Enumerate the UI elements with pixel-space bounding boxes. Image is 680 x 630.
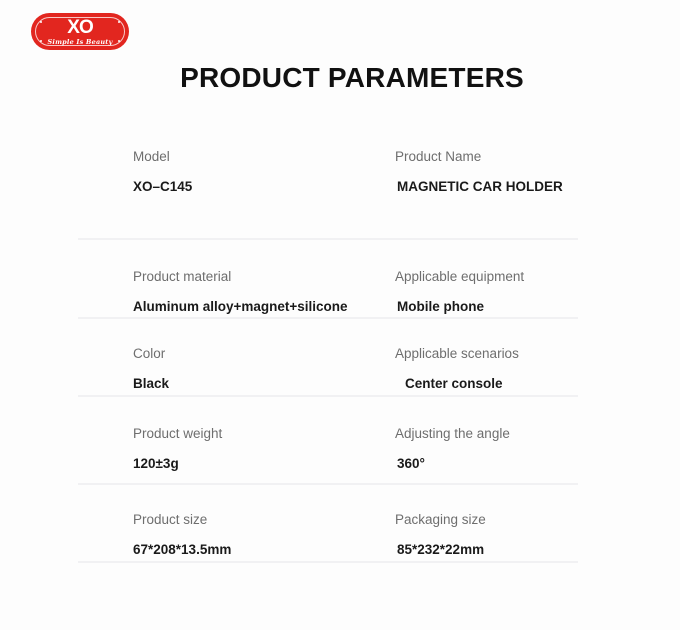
logo-tagline: Simple Is Beauty xyxy=(48,39,113,46)
spec-value: 120±3g xyxy=(133,457,222,471)
spec-row: Product weight 120±3g Adjusting the angl… xyxy=(0,395,680,483)
spec-value: XO–C145 xyxy=(133,180,192,194)
spec-label: Product material xyxy=(133,270,348,284)
spec-label: Model xyxy=(133,150,192,164)
logo-dot-top-right xyxy=(118,21,120,23)
product-parameters-table: Model XO–C145 Product Name MAGNETIC CAR … xyxy=(0,150,680,543)
spec-cell-packaging-size: Packaging size 85*232*22mm xyxy=(395,513,486,556)
spec-label: Packaging size xyxy=(395,513,486,527)
spec-value: MAGNETIC CAR HOLDER xyxy=(397,180,563,194)
logo-dot-bottom-right xyxy=(118,40,120,42)
spec-value: Aluminum alloy+magnet+silicone xyxy=(133,300,348,314)
spec-value: 360° xyxy=(397,457,510,471)
page-title: PRODUCT PARAMETERS xyxy=(0,62,680,94)
spec-value: Black xyxy=(133,377,169,391)
logo-dot-bottom-left xyxy=(40,40,42,42)
spec-label: Applicable scenarios xyxy=(395,347,519,361)
spec-value: 67*208*13.5mm xyxy=(133,543,231,557)
brand-logo: XO Simple Is Beauty xyxy=(31,13,129,50)
spec-row: Model XO–C145 Product Name MAGNETIC CAR … xyxy=(0,150,680,238)
spec-row: Product material Aluminum alloy+magnet+s… xyxy=(0,238,680,318)
spec-label: Applicable equipment xyxy=(395,270,524,284)
spec-row: Color Black Applicable scenarios Center … xyxy=(0,318,680,395)
spec-cell-model: Model XO–C145 xyxy=(133,150,192,193)
spec-label: Product weight xyxy=(133,427,222,441)
logo-wordmark: XO xyxy=(67,18,92,37)
spec-row: Product size 67*208*13.5mm Packaging siz… xyxy=(0,483,680,543)
row-divider xyxy=(78,561,578,563)
logo-dot-top-left xyxy=(40,21,42,23)
spec-value: 85*232*22mm xyxy=(397,543,486,557)
spec-cell-product-name: Product Name MAGNETIC CAR HOLDER xyxy=(395,150,563,193)
spec-cell-product-size: Product size 67*208*13.5mm xyxy=(133,513,231,556)
spec-cell-color: Color Black xyxy=(133,347,169,390)
spec-value: Mobile phone xyxy=(397,300,524,314)
spec-cell-product-weight: Product weight 120±3g xyxy=(133,427,222,470)
spec-label: Adjusting the angle xyxy=(395,427,510,441)
spec-label: Product Name xyxy=(395,150,563,164)
spec-cell-adjusting-angle: Adjusting the angle 360° xyxy=(395,427,510,470)
spec-cell-product-material: Product material Aluminum alloy+magnet+s… xyxy=(133,270,348,313)
spec-label: Color xyxy=(133,347,169,361)
spec-cell-applicable-scenarios: Applicable scenarios Center console xyxy=(395,347,519,390)
spec-label: Product size xyxy=(133,513,231,527)
spec-cell-applicable-equipment: Applicable equipment Mobile phone xyxy=(395,270,524,313)
spec-value: Center console xyxy=(405,377,519,391)
